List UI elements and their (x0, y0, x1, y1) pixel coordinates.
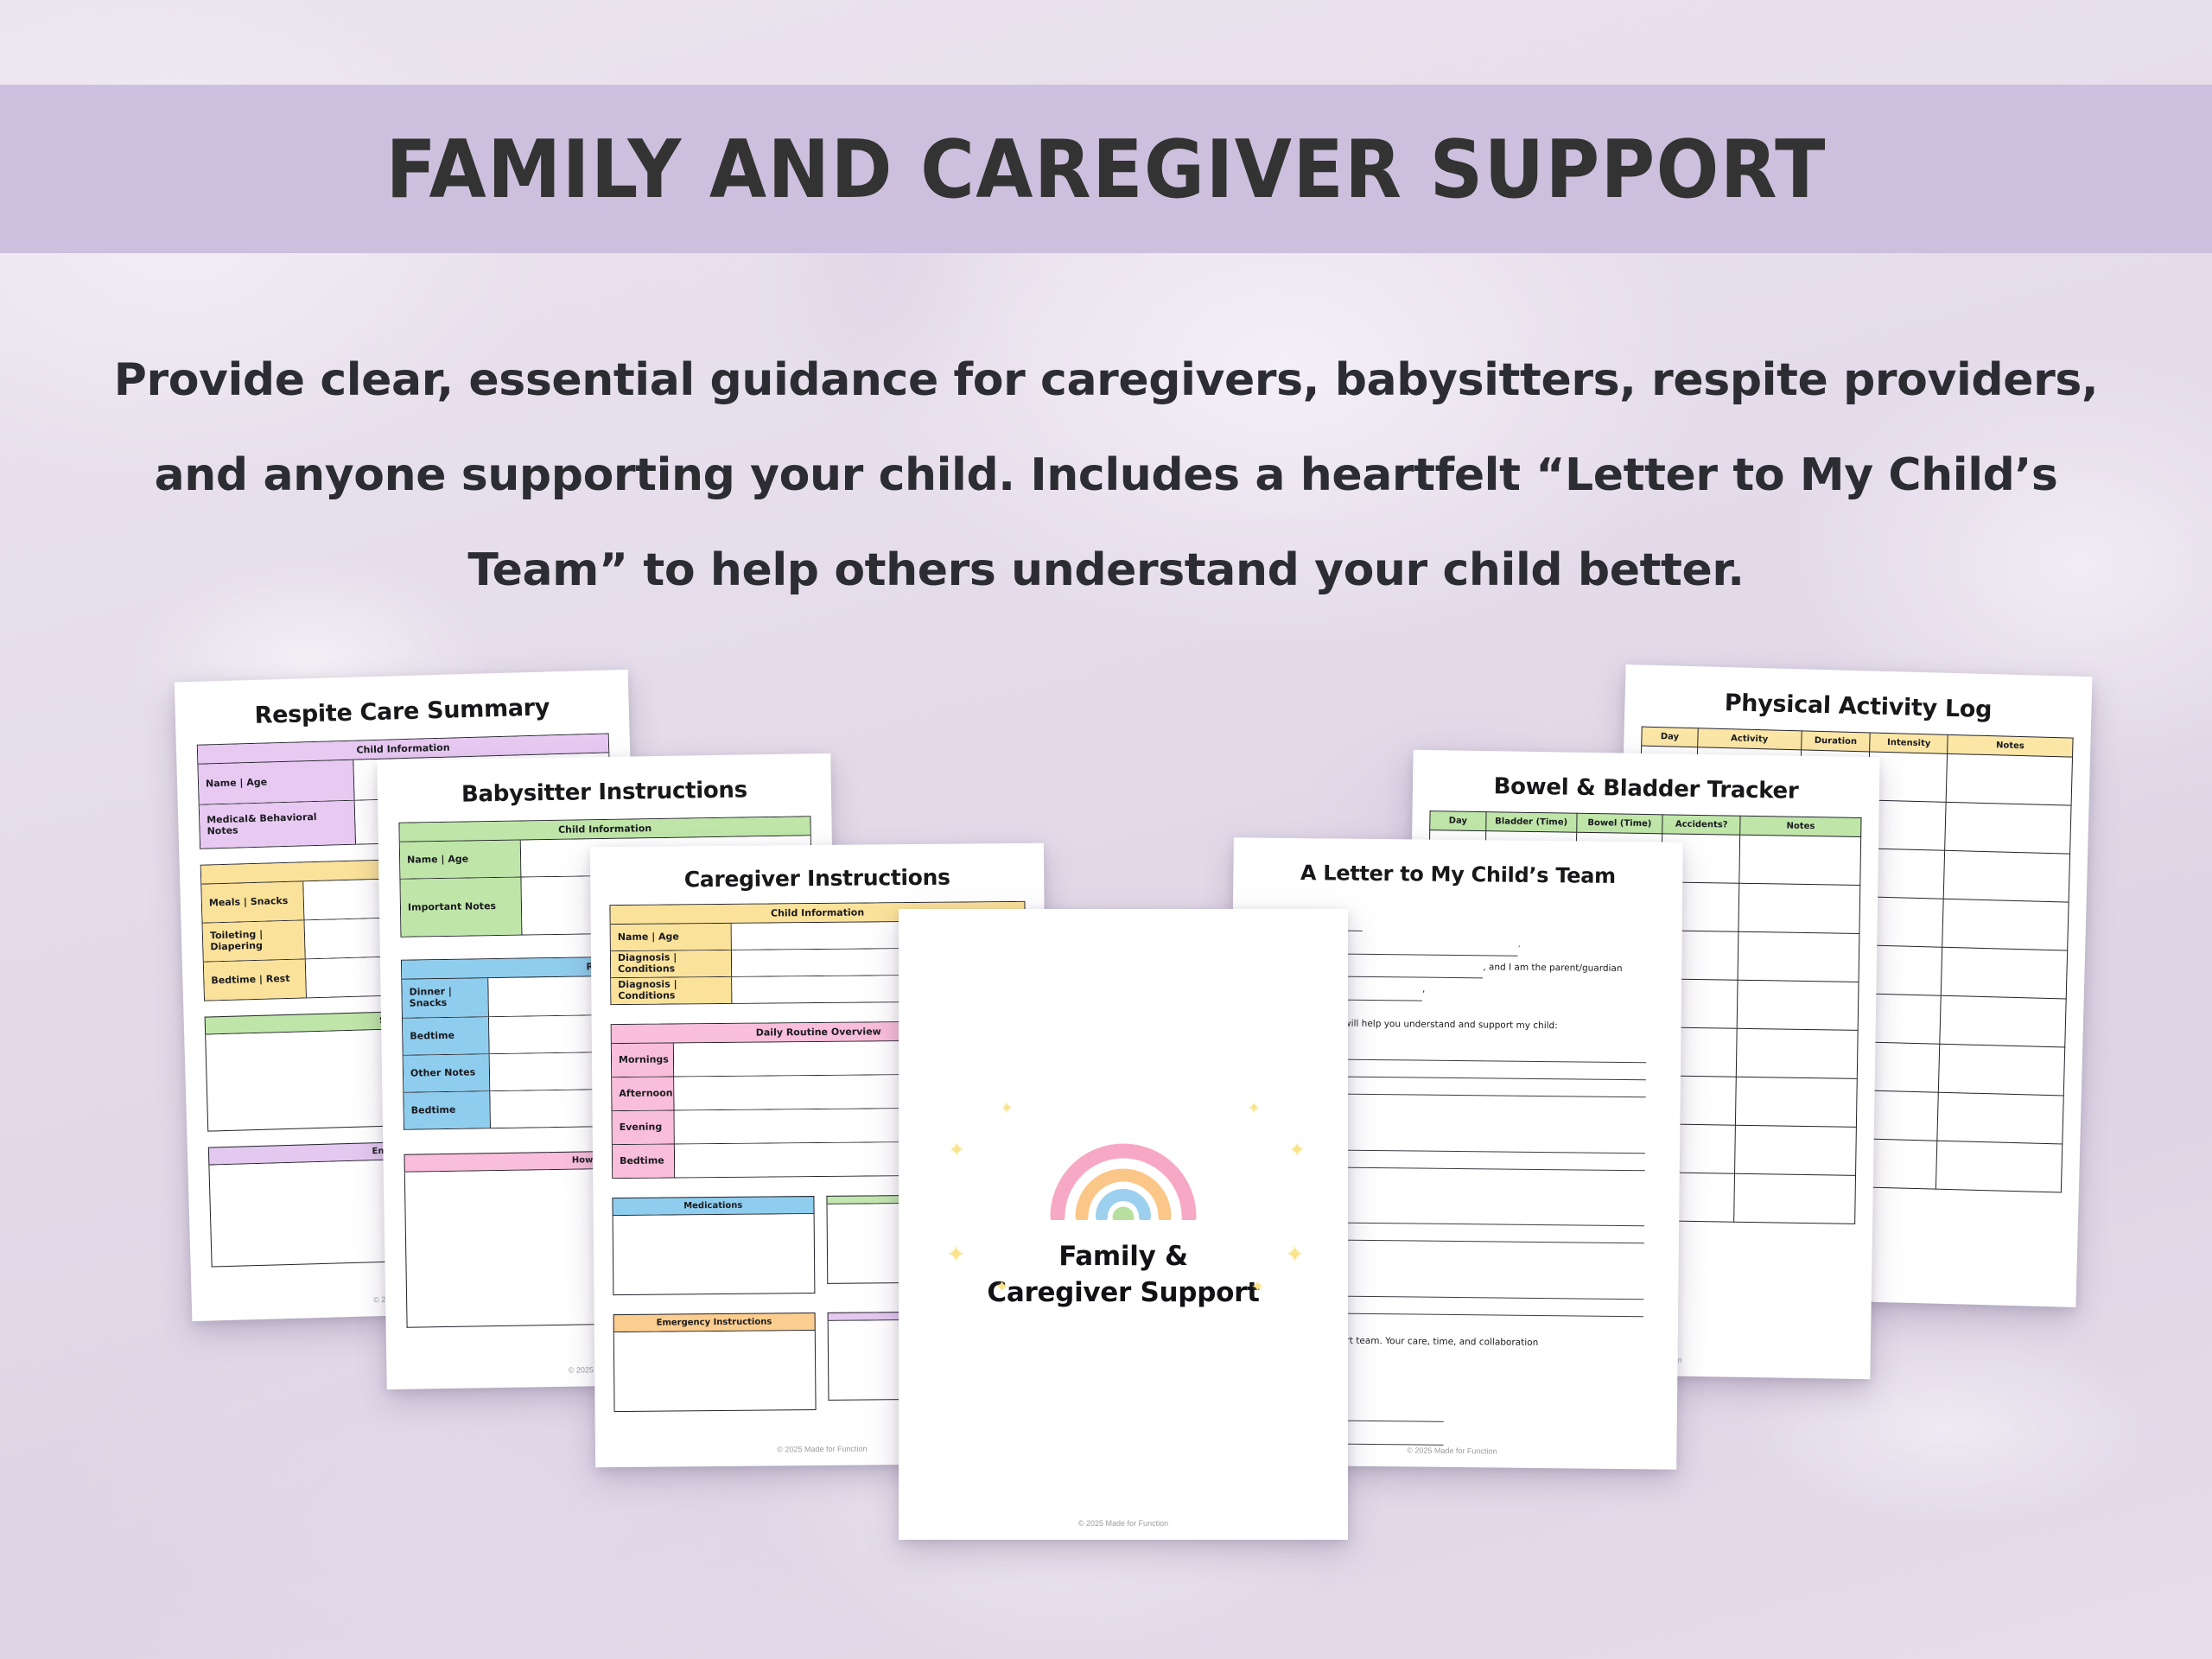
table-cell[interactable] (1939, 1044, 2065, 1096)
table-cell[interactable] (1738, 931, 1859, 982)
row-label: Other Notes (404, 1054, 491, 1092)
emergency-instructions-box: Emergency Instructions (613, 1313, 816, 1412)
table-cell[interactable] (1737, 980, 1859, 1030)
column-header: Notes (1740, 816, 1861, 836)
medications-box: Medications (612, 1196, 814, 1295)
subtitle-description: Provide clear, essential guidance for ca… (112, 333, 2100, 618)
row-label: Evening (613, 1110, 675, 1144)
column-header: Day (1642, 727, 1698, 747)
page-title: FAMILY AND CAREGIVER SUPPORT (385, 123, 1826, 216)
column-header: Bowel (Time) (1576, 813, 1662, 834)
table-cell[interactable] (1736, 1077, 1858, 1127)
cover-title-line-2: Caregiver Support (987, 1275, 1259, 1312)
column-header: Duration (1801, 731, 1870, 752)
star-icon: ✦ (1286, 1244, 1304, 1266)
row-label: Bedtime (613, 1144, 675, 1178)
babysitter-title: Babysitter Instructions (398, 776, 810, 808)
row-label: Mornings (612, 1043, 674, 1077)
letter-phrase-parent: , and I am the parent/guardian (1483, 962, 1622, 974)
row-label: Diagnosis | Conditions (611, 950, 732, 977)
column-header: Day (1430, 811, 1486, 831)
row-label: Name | Age (198, 760, 354, 804)
section-header: Emergency Instructions (613, 1313, 816, 1332)
star-icon: ✦ (1289, 1141, 1305, 1160)
copyright-footer: © 2025 Made for Function (899, 1519, 1348, 1528)
row-label: Toileting | Diapering (203, 920, 306, 961)
star-icon: ✦ (949, 1141, 964, 1160)
row-label: Name | Age (400, 841, 522, 879)
table-cell[interactable] (1735, 1125, 1857, 1175)
star-icon: ✦ (995, 1279, 1008, 1294)
row-label: Meals | Snacks (201, 881, 304, 922)
header-banner: FAMILY AND CAREGIVER SUPPORT (0, 85, 2212, 253)
subtitle-line-3: Team” to help others understand your chi… (112, 523, 2100, 618)
activity-title: Physical Activity Log (1642, 688, 2075, 726)
table-cell[interactable] (1734, 1173, 1856, 1224)
table-cell[interactable] (1738, 883, 1860, 933)
star-icon: ✦ (1248, 1101, 1260, 1116)
table-cell[interactable] (1937, 1092, 2063, 1144)
table-cell[interactable] (1869, 752, 1948, 802)
table-cell[interactable] (1945, 802, 2071, 854)
caregiver-title: Caregiver Instructions (609, 864, 1025, 893)
subtitle-line-1: Provide clear, essential guidance for ca… (112, 333, 2100, 428)
cover-title-line-1: Family & (987, 1239, 1259, 1275)
column-header: Activity (1698, 728, 1802, 750)
table-cell[interactable] (1943, 850, 2069, 902)
row-label: Bedtime (404, 1091, 491, 1129)
table-cell[interactable] (1739, 835, 1861, 885)
table-cell[interactable] (1942, 899, 2069, 950)
column-header: Intensity (1870, 733, 1948, 753)
row-label: Dinner | Snacks (402, 978, 489, 1018)
table-cell[interactable] (1936, 1141, 2063, 1192)
row-label: Name | Age (611, 924, 732, 950)
row-label: Medical& Behavioral Notes (200, 801, 356, 849)
column-header: Bladder (Time) (1486, 812, 1577, 833)
subtitle-line-2: and anyone supporting your child. Includ… (112, 428, 2100, 523)
respite-title: Respite Care Summary (195, 692, 608, 730)
row-label: Afternoon (612, 1077, 674, 1110)
row-label: Diagnosis | Conditions (611, 977, 732, 1004)
table-cell[interactable] (1737, 1028, 1859, 1078)
section-header: Medications (612, 1196, 814, 1216)
medications-input[interactable] (613, 1214, 815, 1295)
star-icon: ✦ (1001, 1101, 1013, 1116)
document-card-cover-family-caregiver-support[interactable]: ✦ ✦ ✦ ✦ ✦ ✦ ✦ ✦ Family & Caregiver Suppo… (899, 909, 1348, 1540)
letter-title: A Letter to My Child’s Team (1268, 861, 1648, 889)
table-cell[interactable] (1941, 947, 2067, 999)
star-icon: ✦ (1251, 1279, 1264, 1294)
row-label: Bedtime | Rest (204, 959, 307, 1000)
column-header: Accidents? (1662, 815, 1740, 835)
emergency-instructions-input[interactable] (613, 1331, 816, 1412)
table-cell[interactable] (1867, 800, 1946, 850)
row-label: Bedtime (403, 1017, 490, 1055)
rainbow-icon (1049, 1137, 1198, 1220)
star-icon: ✦ (947, 1244, 965, 1266)
table-cell[interactable] (1946, 753, 2072, 805)
cover-title: Family & Caregiver Support (987, 1239, 1259, 1312)
bowel-title: Bowel & Bladder Tracker (1430, 772, 1862, 805)
row-label: Important Notes (400, 878, 522, 937)
table-cell[interactable] (1940, 995, 2066, 1047)
